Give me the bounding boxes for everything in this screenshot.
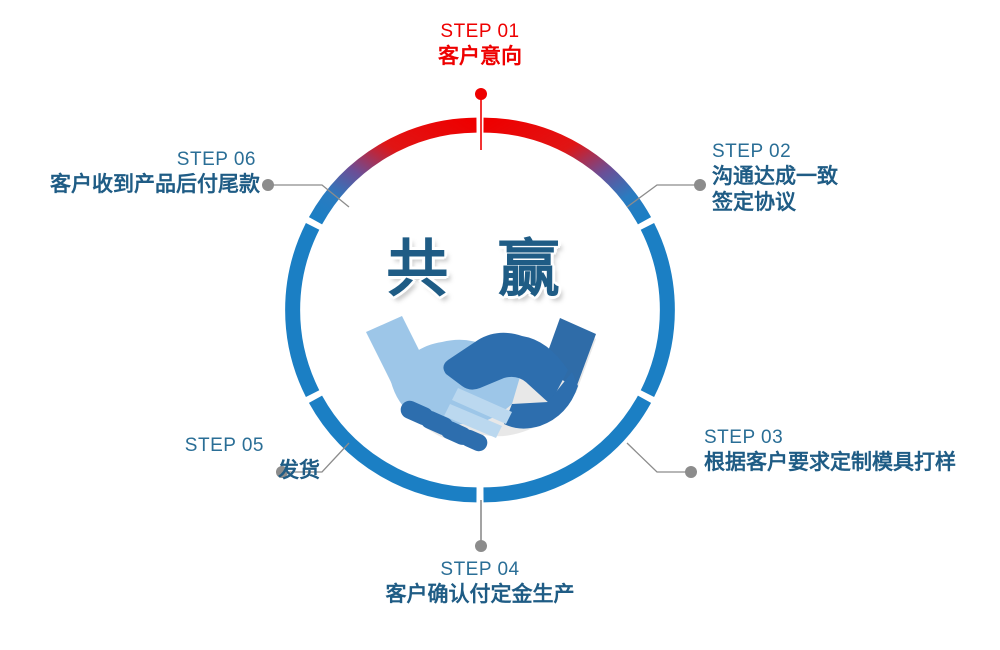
handshake-icon	[362, 312, 622, 452]
step-05-desc-line1: 发货	[60, 457, 320, 483]
step-06-desc-line1: 客户收到产品后付尾款	[10, 171, 260, 197]
step-02-desc-line2: 签定协议	[712, 189, 992, 215]
ring-segment-6	[316, 125, 477, 221]
step-04[interactable]: STEP 04 客户确认付定金生产	[330, 560, 630, 607]
step-04-desc-line1: 客户确认付定金生产	[330, 581, 630, 607]
step-05-number: STEP 05	[60, 436, 320, 457]
connector-dot-step06	[262, 179, 274, 191]
ring-segment-1	[484, 125, 645, 221]
step-06-number: STEP 06	[10, 150, 260, 171]
infographic-canvas: 共 赢	[0, 0, 1000, 650]
step-06[interactable]: STEP 06 客户收到产品后付尾款	[10, 150, 260, 197]
connector-dot-step01	[475, 88, 487, 100]
step-04-number: STEP 04	[330, 560, 630, 581]
step-03-number: STEP 03	[704, 428, 994, 449]
connector-dot-step03	[685, 466, 697, 478]
step-02-number: STEP 02	[712, 142, 992, 163]
step-05[interactable]: STEP 05 发货	[60, 436, 320, 483]
step-03[interactable]: STEP 03 根据客户要求定制模具打样	[704, 428, 994, 475]
connector-dot-step04	[475, 540, 487, 552]
step-02[interactable]: STEP 02 沟通达成一致 签定协议	[712, 142, 992, 215]
center-slogan: 共 赢	[300, 218, 660, 308]
step-01[interactable]: STEP 01 客户意向	[330, 22, 630, 69]
step-01-desc-line1: 客户意向	[330, 43, 630, 69]
step-01-number: STEP 01	[330, 22, 630, 43]
connector-dot-step02	[694, 179, 706, 191]
step-02-desc-line1: 沟通达成一致	[712, 163, 992, 189]
step-03-desc-line1: 根据客户要求定制模具打样	[704, 449, 994, 475]
